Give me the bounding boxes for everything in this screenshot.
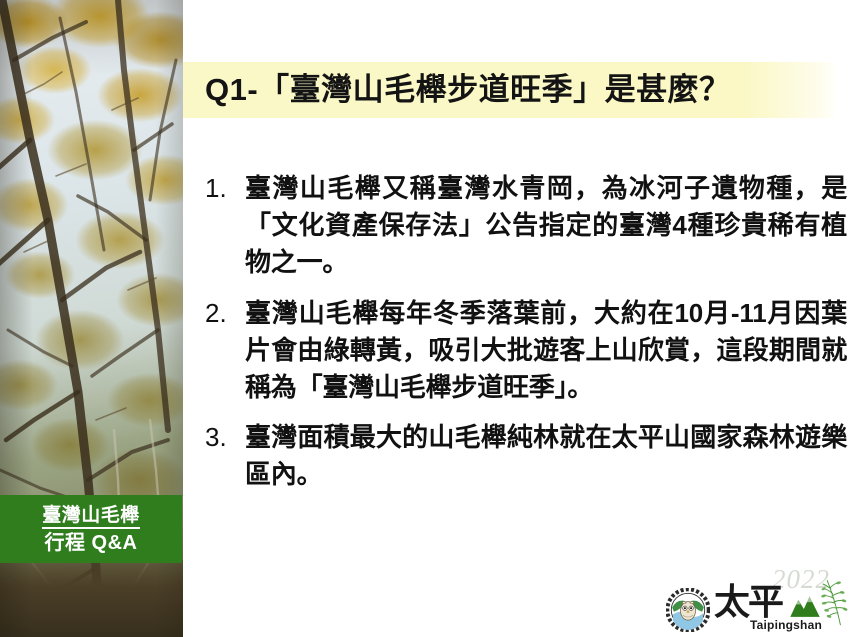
caption-line-1: 臺灣山毛櫸 xyxy=(42,505,140,530)
caption-line-2: 行程 Q&A xyxy=(45,532,138,555)
page-title: Q1-「臺灣山毛櫸步道旺季」是甚麼？ xyxy=(205,68,845,111)
list-item-text: 臺灣山毛櫸每年冬季落葉前，大約在10月-11月因葉片會由綠轉黃，吸引大批遊客上山… xyxy=(245,295,847,406)
list-item: 3. 臺灣面積最大的山毛櫸純林就在太平山國家森林遊樂區內。 xyxy=(205,419,847,493)
list-item-number: 1. xyxy=(205,170,245,207)
taipingshan-logo: 2022 太平 Taipingshan xyxy=(662,578,850,637)
list-item-text: 臺灣面積最大的山毛櫸純林就在太平山國家森林遊樂區內。 xyxy=(245,419,847,493)
logo-english-text: Taipingshan xyxy=(750,618,822,632)
list-item-number: 2. xyxy=(205,295,245,332)
list-item: 1. 臺灣山毛櫸又稱臺灣水青岡，為冰河子遺物種，是「文化資產保存法」公告指定的臺… xyxy=(205,170,847,281)
photo-caption-badge: 臺灣山毛櫸 行程 Q&A xyxy=(0,495,182,563)
list-item-text: 臺灣山毛櫸又稱臺灣水青岡，為冰河子遺物種，是「文化資產保存法」公告指定的臺灣4種… xyxy=(245,170,847,281)
list-item-number: 3. xyxy=(205,419,245,456)
fern-sprig-icon xyxy=(814,578,850,626)
list-item: 2. 臺灣山毛櫸每年冬季落葉前，大約在10月-11月因葉片會由綠轉黃，吸引大批遊… xyxy=(205,295,847,406)
answer-list: 1. 臺灣山毛櫸又稱臺灣水青岡，為冰河子遺物種，是「文化資產保存法」公告指定的臺… xyxy=(205,170,847,507)
owl-circular-emblem xyxy=(666,588,710,632)
slide-canvas: 臺灣山毛櫸 行程 Q&A Q1-「臺灣山毛櫸步道旺季」是甚麼？ 1. 臺灣山毛櫸… xyxy=(0,0,850,637)
logo-chinese-text: 太平 xyxy=(714,585,782,621)
